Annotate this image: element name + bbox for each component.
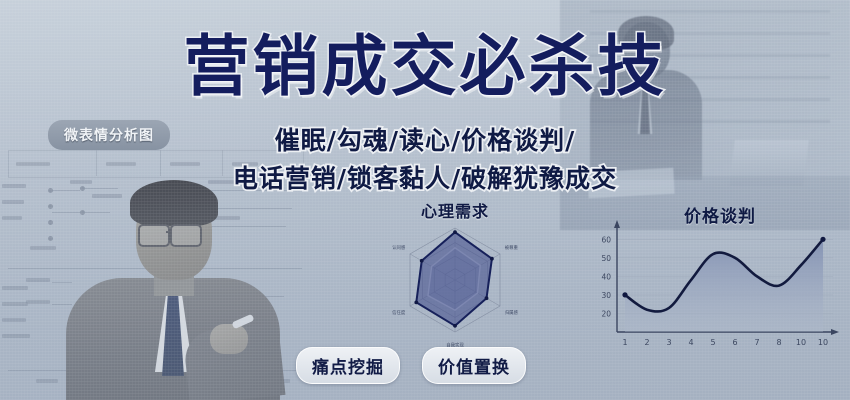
marketing-banner: 微表情分析图 营销成交必杀技 催眠/勾魂/读心/价格谈判/ 电话营销/锁客黏人/…: [0, 0, 850, 400]
person-arm: [182, 323, 285, 400]
cta-button-row: 痛点挖掘 价值置换: [296, 347, 576, 384]
svg-text:信任度: 信任度: [392, 309, 406, 316]
svg-text:1: 1: [622, 338, 627, 347]
line-chart-x-tick-labels: 123456781010: [622, 338, 828, 347]
svg-text:3: 3: [666, 338, 671, 347]
pain-point-button[interactable]: 痛点挖掘: [296, 347, 400, 384]
svg-text:30: 30: [601, 291, 611, 300]
person-tie: [162, 290, 184, 376]
svg-text:10: 10: [796, 338, 806, 347]
svg-text:40: 40: [601, 272, 611, 281]
value-exchange-button[interactable]: 价值置换: [422, 347, 526, 384]
x-axis-arrow: [831, 329, 839, 335]
svg-text:安全: 安全: [451, 216, 460, 219]
line-chart-y-tick-labels: 6050403020: [601, 235, 611, 318]
subtitle-line-2: 电话营销/锁客黏人/破解犹豫成交: [0, 159, 850, 195]
radar-series-current: [416, 232, 492, 326]
page-title: 营销成交必杀技: [0, 34, 850, 100]
person-head: [136, 188, 212, 280]
svg-text:7: 7: [754, 338, 759, 347]
line-chart: 价格谈判 123456781010 6050403020: [595, 200, 845, 365]
eyeglasses-bridge: [166, 231, 172, 233]
person-suit: [66, 278, 280, 400]
line-chart-title: 价格谈判: [625, 202, 815, 227]
svg-text:被尊重: 被尊重: [505, 244, 519, 251]
svg-text:认同感: 认同感: [392, 244, 406, 251]
person-shirt: [146, 278, 202, 372]
svg-text:4: 4: [688, 338, 693, 347]
presenter-person: [58, 178, 288, 400]
y-axis-arrow: [614, 220, 620, 228]
radar-chart: 心理需求 安全被尊重归属感自我实现信任度认同感: [330, 198, 580, 358]
radar-chart-svg: 安全被尊重归属感自我实现信任度认同感: [330, 216, 580, 358]
person-neck: [154, 256, 194, 296]
svg-text:归属感: 归属感: [505, 309, 519, 316]
svg-text:10: 10: [818, 338, 828, 347]
svg-text:60: 60: [601, 235, 611, 244]
svg-text:2: 2: [644, 338, 649, 347]
svg-text:50: 50: [601, 254, 611, 263]
svg-text:5: 5: [710, 338, 715, 347]
eyeglasses-right-lens: [170, 224, 202, 247]
pen-icon: [232, 314, 255, 329]
subtitle-line-1: 催眠/勾魂/读心/价格谈判/: [0, 121, 850, 157]
svg-text:6: 6: [732, 338, 737, 347]
svg-text:20: 20: [601, 310, 611, 319]
person-hand: [210, 324, 248, 354]
svg-text:8: 8: [776, 338, 781, 347]
eyeglasses-left-lens: [138, 224, 170, 247]
